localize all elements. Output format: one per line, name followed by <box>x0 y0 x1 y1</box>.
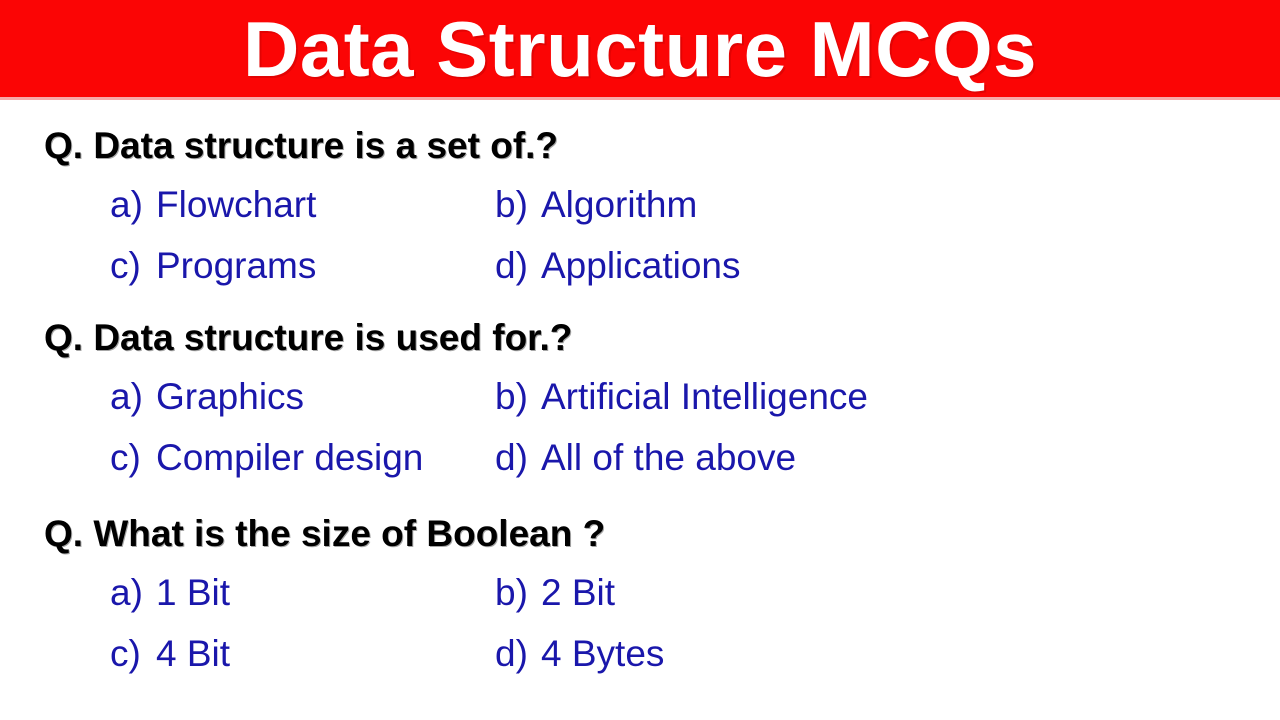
option-marker: c) <box>110 427 156 488</box>
option-label: Applications <box>541 235 741 296</box>
option-marker: a) <box>110 562 156 623</box>
question-prompt-1: Q. Data structure is a set of.? <box>0 116 1280 170</box>
option-marker: c) <box>110 235 156 296</box>
question-block-3: Q. What is the size of Boolean ? a) 1 Bi… <box>0 496 1280 684</box>
option-row: c) Compiler design d) All of the above <box>110 427 1280 488</box>
option-label: Graphics <box>156 366 304 427</box>
question-block-2: Q. Data structure is used for.? a) Graph… <box>0 304 1280 488</box>
option-3b[interactable]: b) 2 Bit <box>495 562 615 623</box>
question-block-1: Q. Data structure is a set of.? a) Flowc… <box>0 116 1280 296</box>
option-3a[interactable]: a) 1 Bit <box>110 562 495 623</box>
option-label: Flowchart <box>156 174 316 235</box>
title-banner: Data Structure MCQs <box>0 0 1280 97</box>
option-list-1: a) Flowchart b) Algorithm c) Programs d) <box>0 170 1280 296</box>
option-1d[interactable]: d) Applications <box>495 235 741 296</box>
option-label: 4 Bit <box>156 623 230 684</box>
option-marker: b) <box>495 366 541 427</box>
option-label: Programs <box>156 235 316 296</box>
option-list-2: a) Graphics b) Artificial Intelligence c… <box>0 362 1280 488</box>
option-3c[interactable]: c) 4 Bit <box>110 623 495 684</box>
option-marker: a) <box>110 174 156 235</box>
option-2c[interactable]: c) Compiler design <box>110 427 495 488</box>
option-marker: d) <box>495 235 541 296</box>
option-marker: c) <box>110 623 156 684</box>
option-label: Algorithm <box>541 174 697 235</box>
option-2b[interactable]: b) Artificial Intelligence <box>495 366 868 427</box>
option-label: 4 Bytes <box>541 623 664 684</box>
option-label: Artificial Intelligence <box>541 366 868 427</box>
option-marker: d) <box>495 623 541 684</box>
option-label: 2 Bit <box>541 562 615 623</box>
page-title: Data Structure MCQs <box>243 8 1037 90</box>
option-marker: b) <box>495 174 541 235</box>
option-row: a) Flowchart b) Algorithm <box>110 174 1280 235</box>
option-label: 1 Bit <box>156 562 230 623</box>
mcq-slide: Data Structure MCQs Q. Data structure is… <box>0 0 1280 720</box>
question-prompt-2: Q. Data structure is used for.? <box>0 304 1280 362</box>
question-prompt-3: Q. What is the size of Boolean ? <box>0 496 1280 558</box>
option-1b[interactable]: b) Algorithm <box>495 174 697 235</box>
option-row: c) 4 Bit d) 4 Bytes <box>110 623 1280 684</box>
option-row: a) 1 Bit b) 2 Bit <box>110 562 1280 623</box>
option-row: c) Programs d) Applications <box>110 235 1280 296</box>
option-marker: b) <box>495 562 541 623</box>
option-row: a) Graphics b) Artificial Intelligence <box>110 366 1280 427</box>
option-list-3: a) 1 Bit b) 2 Bit c) 4 Bit d) 4 <box>0 558 1280 684</box>
option-marker: d) <box>495 427 541 488</box>
option-2a[interactable]: a) Graphics <box>110 366 495 427</box>
option-1c[interactable]: c) Programs <box>110 235 495 296</box>
option-1a[interactable]: a) Flowchart <box>110 174 495 235</box>
option-3d[interactable]: d) 4 Bytes <box>495 623 664 684</box>
quiz-body: Q. Data structure is a set of.? a) Flowc… <box>0 100 1280 720</box>
option-label: All of the above <box>541 427 796 488</box>
option-marker: a) <box>110 366 156 427</box>
option-label: Compiler design <box>156 427 423 488</box>
option-2d[interactable]: d) All of the above <box>495 427 796 488</box>
